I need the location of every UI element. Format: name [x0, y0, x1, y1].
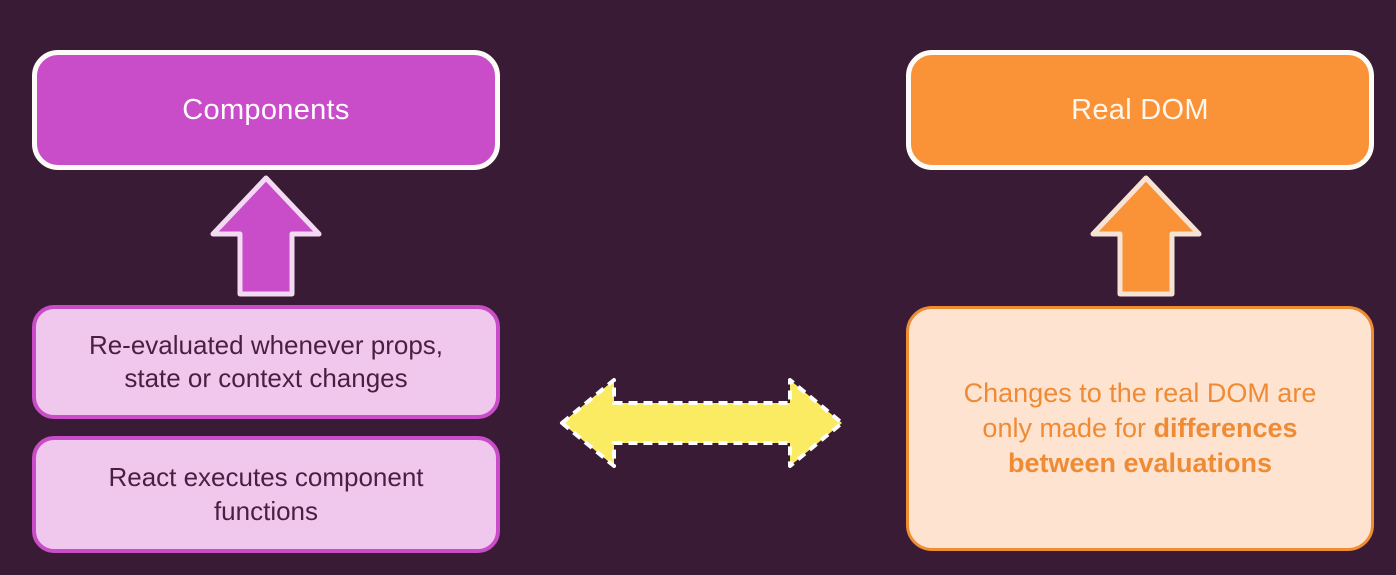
components-label: Components	[182, 94, 349, 127]
up-arrow-icon-purple	[206, 172, 326, 300]
double-headed-arrow-icon-yellow	[556, 368, 848, 478]
real-dom-detail-line-2: only made for differences	[964, 411, 1317, 446]
real-dom-header-box: Real DOM	[906, 50, 1374, 170]
real-dom-detail-box: Changes to the real DOM are only made fo…	[906, 306, 1374, 551]
components-detail-text-2: React executes component functions	[108, 461, 423, 528]
components-detail-box-1: Re-evaluated whenever props, state or co…	[32, 305, 500, 419]
up-arrow-icon-orange	[1086, 172, 1206, 300]
real-dom-label: Real DOM	[1071, 94, 1209, 127]
components-header-box: Components	[32, 50, 500, 170]
components-detail-text-1: Re-evaluated whenever props, state or co…	[89, 329, 443, 396]
real-dom-detail-text: Changes to the real DOM are only made fo…	[964, 376, 1317, 481]
diagram-canvas: Components Re-evaluated whenever props, …	[0, 0, 1396, 575]
components-detail-box-2: React executes component functions	[32, 436, 500, 553]
